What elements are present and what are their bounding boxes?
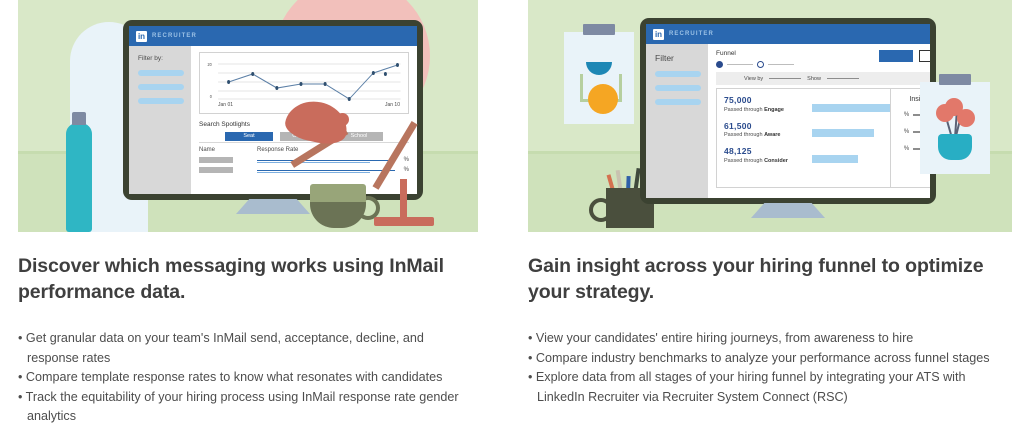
bullet-list-right: • View your candidates' entire hiring jo… (528, 329, 1012, 407)
monitor-right: in RECRUITER Filter (640, 18, 936, 204)
app-body: Filter Funnel (646, 44, 930, 198)
list-item: • Get granular data on your team's InMai… (18, 329, 478, 368)
linkedin-logo-icon: in (653, 29, 664, 40)
funnel-stage-name: Aware (764, 132, 780, 138)
funnel-stage-row: 48,125 Passed through Consider (724, 147, 890, 164)
secondary-button[interactable] (919, 50, 930, 62)
x-tick-start: Jan 01 (218, 102, 233, 108)
filter-sidebar: Filter by: (129, 46, 191, 194)
insight-percent: % (904, 129, 909, 135)
show-value-placeholder[interactable] (827, 78, 859, 79)
filter-sidebar: Filter (646, 44, 708, 198)
frame-clip (939, 74, 971, 85)
col-header-response-rate: Response Rate (257, 147, 298, 153)
funnel-stage-caption: Passed through Consider (724, 158, 812, 164)
view-by-value-placeholder[interactable] (769, 78, 801, 79)
illustration-funnel-dashboard: in RECRUITER Filter (528, 0, 1012, 232)
funnel-stage-value: 48,125 (724, 147, 812, 156)
filter-pill[interactable] (138, 98, 184, 104)
funnel-step-radios (716, 61, 879, 68)
row-name-placeholder (199, 167, 233, 173)
linkedin-logo-icon: in (136, 31, 147, 42)
bottle-cap (72, 112, 86, 125)
funnel-stage-caption: Passed through Aware (724, 132, 812, 138)
list-item: • Compare template response rates to kno… (18, 368, 478, 387)
bullet-list-left: • Get granular data on your team's InMai… (18, 329, 478, 426)
funnel-stage-text: 61,500 Passed through Aware (724, 122, 812, 139)
y-tick-bottom: 0 (210, 93, 213, 99)
app-brand-label: RECRUITER (152, 33, 197, 39)
filter-pill[interactable] (655, 85, 701, 91)
framed-flowers-art-icon (920, 82, 990, 174)
filter-pill[interactable] (138, 84, 184, 90)
y-tick-top: 20 (208, 61, 213, 67)
funnel-stage-prefix: Passed through (724, 107, 764, 113)
funnel-stage-row: 61,500 Passed through Aware (724, 122, 890, 139)
list-item: • View your candidates' entire hiring jo… (528, 329, 1012, 348)
copy-block-right: Gain insight across your hiring funnel t… (528, 232, 1012, 407)
list-item: • Explore data from all stages of your h… (528, 368, 1012, 407)
desk-lamp-icon (338, 74, 470, 226)
page-title: Discover which messaging works using InM… (18, 254, 478, 305)
funnel-toggle-group: Funnel (716, 50, 879, 68)
funnel-stage-value: 61,500 (724, 122, 812, 131)
screen-funnel: in RECRUITER Filter (646, 24, 930, 198)
radio-selected-icon[interactable] (716, 61, 723, 68)
main-content-funnel: Funnel (708, 44, 930, 198)
column-hiring-funnel: in RECRUITER Filter (512, 0, 1024, 426)
two-column-layout: in RECRUITER Filter by: (0, 0, 1024, 426)
funnel-stage-name: Consider (764, 158, 788, 164)
funnel-stage-row: 75,000 Passed through Engage (724, 96, 890, 113)
filter-pill[interactable] (655, 71, 701, 77)
copy-block-left: Discover which messaging works using InM… (18, 232, 478, 426)
funnel-stage-list: 75,000 Passed through Engage (717, 89, 890, 187)
funnel-stage-bar (812, 155, 858, 163)
insight-percent: % (904, 146, 909, 152)
illustration-inmail-dashboard: in RECRUITER Filter by: (18, 0, 478, 232)
funnel-stage-text: 75,000 Passed through Engage (724, 96, 812, 113)
app-header-bar: in RECRUITER (646, 24, 930, 44)
tab-seat[interactable]: Seat (225, 132, 273, 141)
filter-sidebar-title: Filter by: (138, 55, 184, 62)
funnel-stage-bar (812, 129, 874, 137)
funnel-stage-caption: Passed through Engage (724, 107, 812, 113)
view-by-label: View by (744, 76, 763, 82)
list-item: • Compare industry benchmarks to analyze… (528, 349, 1012, 368)
funnel-stage-bar (812, 104, 890, 112)
radio-connector (727, 64, 753, 65)
col-header-name: Name (199, 147, 257, 153)
app-header-bar: in RECRUITER (129, 26, 417, 46)
view-options-bar: View by Show (716, 72, 930, 85)
filter-pill[interactable] (138, 70, 184, 76)
filter-sidebar-title: Filter (655, 53, 701, 63)
column-inmail-performance: in RECRUITER Filter by: (0, 0, 512, 426)
radio-connector (768, 64, 794, 65)
bottle-body (66, 123, 92, 232)
row-name-placeholder (199, 157, 233, 163)
funnel-toolbar: Funnel (708, 44, 930, 68)
show-label: Show (807, 76, 821, 82)
funnel-stage-value: 75,000 (724, 96, 812, 105)
lamp-arm-lower (372, 121, 417, 190)
funnel-stage-prefix: Passed through (724, 132, 764, 138)
insight-percent: % (904, 112, 909, 118)
radio-unselected-icon[interactable] (757, 61, 764, 68)
funnel-stage-prefix: Passed through (724, 158, 764, 164)
water-bottle-icon (66, 112, 92, 232)
funnel-stage-text: 48,125 Passed through Consider (724, 147, 812, 164)
filter-pill[interactable] (655, 99, 701, 105)
flower-bloom (957, 109, 975, 127)
page-title: Gain insight across your hiring funnel t… (528, 254, 1012, 305)
primary-button[interactable] (879, 50, 913, 62)
funnel-stage-name: Engage (764, 107, 784, 113)
page-root: in RECRUITER Filter by: (0, 0, 1024, 444)
art-orange-circle (588, 84, 618, 114)
lamp-post (400, 179, 407, 219)
app-brand-label: RECRUITER (669, 31, 714, 37)
list-item: • Track the equitability of your hiring … (18, 388, 478, 427)
frame-clip (583, 24, 615, 35)
framed-abstract-art-icon (564, 32, 634, 124)
funnel-title: Funnel (716, 50, 879, 57)
funnel-panel: 75,000 Passed through Engage (716, 88, 930, 188)
flower-vase (938, 134, 972, 160)
